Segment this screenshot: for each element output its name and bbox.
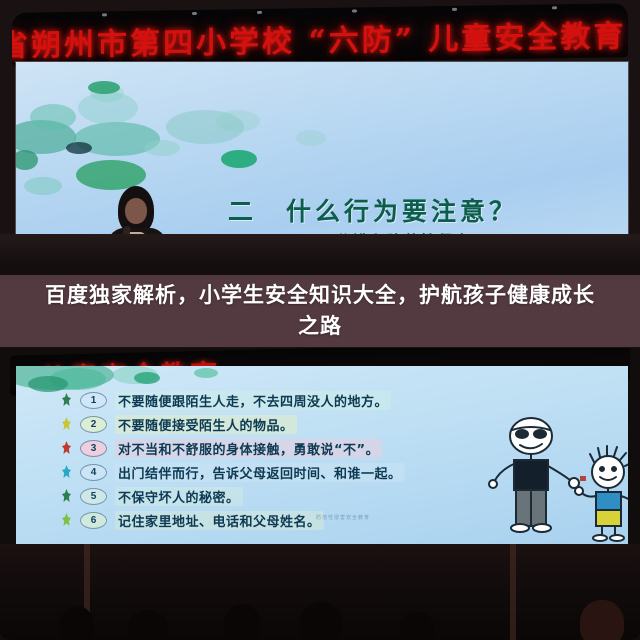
hall-post (510, 544, 516, 640)
presenter-face (125, 198, 147, 224)
star-icon (60, 512, 74, 528)
list-item: 3 对不当和不舒服的身体接触，勇敢说“不”。 (60, 436, 490, 460)
star-icon (60, 488, 74, 504)
audience-head (400, 612, 434, 640)
audience-head (224, 604, 260, 640)
list-item: 6 记住家里地址、电话和父母姓名。 (60, 508, 490, 532)
list-item-number: 1 (80, 392, 107, 409)
caption-overlay-band: 百度独家解析，小学生安全知识大全，护航孩子健康成长之路 (0, 275, 640, 347)
list-item-text: 不保守坏人的秘密。 (115, 487, 243, 506)
led-banner-top-text: 省朔州市第四小学校 “六防” 儿童安全教育 (12, 11, 626, 65)
slide-footnote-bottom: 防范性侵害安全教育 (316, 514, 370, 521)
audience-head (300, 602, 342, 640)
audience-head (580, 600, 624, 640)
list-item-text: 出门结伴而行，告诉父母返回时间、和谁一起。 (115, 463, 405, 482)
star-icon (60, 440, 74, 456)
list-item-number: 5 (80, 488, 107, 505)
projection-screen-bottom: 1 不要随便跟陌生人走，不去四周没人的地方。 2 不要随便接受陌生人的物品。 3… (16, 366, 628, 544)
star-icon (60, 464, 74, 480)
star-icon (60, 416, 74, 432)
list-item: 1 不要随便跟陌生人走，不去四周没人的地方。 (60, 388, 490, 412)
caption-text: 百度独家解析，小学生安全知识大全，护航孩子健康成长之路 (40, 280, 600, 342)
stage-dark-strip (0, 234, 640, 280)
cartoon-illustration (486, 414, 628, 544)
list-item: 5 不保守坏人的秘密。 (60, 484, 490, 508)
star-icon (60, 392, 74, 408)
audience-head (128, 610, 168, 640)
led-banner-top: 省朔州市第四小学校 “六防” 儿童安全教育 (12, 3, 628, 67)
list-item-text: 记住家里地址、电话和父母姓名。 (115, 511, 324, 530)
image-canvas: 省朔州市第四小学校 “六防” 儿童安全教育 二 什么行为要 (0, 0, 640, 640)
slide-title-top: 二 什么行为要注意？ (228, 192, 518, 228)
photo-bottom-auditorium: 儿童安全教育 1 不要随便跟陌生人走，不去四周没人的地方。 2 (0, 348, 640, 640)
audience-head (60, 606, 94, 640)
list-item-text: 不要随便跟陌生人走，不去四周没人的地方。 (115, 391, 391, 410)
list-item: 4 出门结伴而行，告诉父母返回时间、和谁一起。 (60, 460, 490, 484)
list-item-number: 6 (80, 512, 107, 529)
list-item-number: 2 (80, 416, 107, 433)
slide2-rule-list: 1 不要随便跟陌生人走，不去四周没人的地方。 2 不要随便接受陌生人的物品。 3… (60, 388, 490, 532)
list-item-number: 4 (80, 464, 107, 481)
audience-silhouettes (0, 544, 640, 640)
list-item-text: 不要随便接受陌生人的物品。 (115, 415, 297, 434)
list-item-number: 3 (80, 440, 107, 457)
list-item: 2 不要随便接受陌生人的物品。 (60, 412, 490, 436)
list-item-text: 对不当和不舒服的身体接触，勇敢说“不”。 (115, 439, 382, 458)
